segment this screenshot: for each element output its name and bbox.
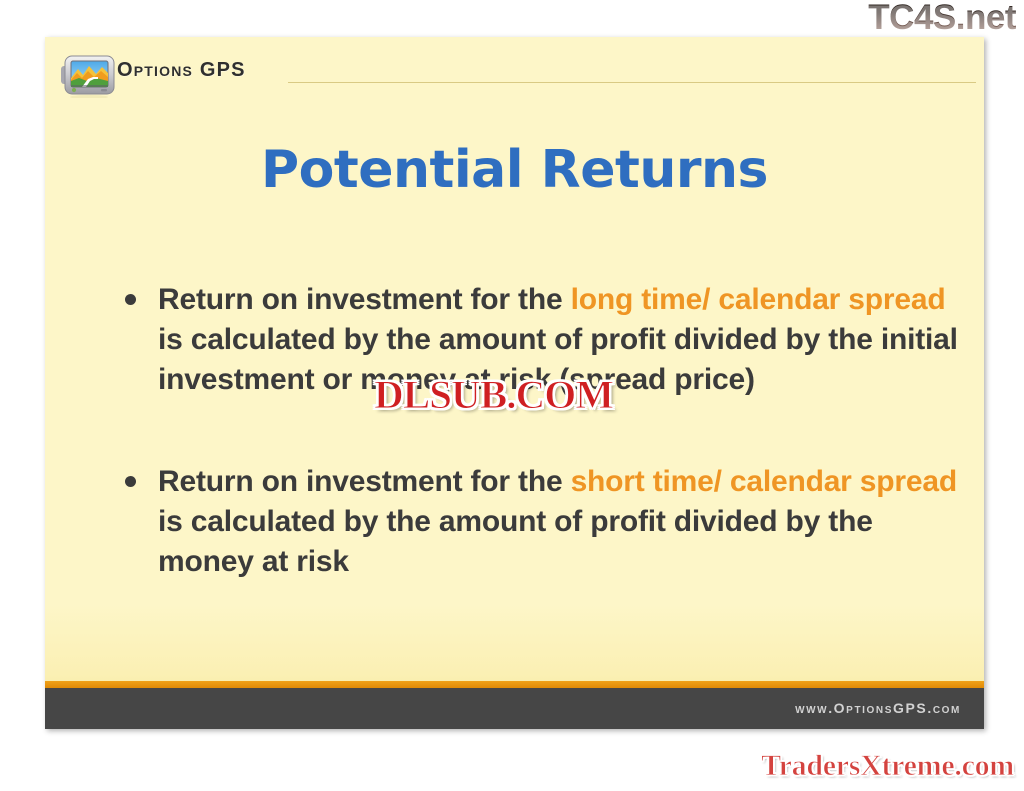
tc4s-watermark: TC4S.net	[868, 0, 1016, 38]
bullet-dot-icon	[125, 476, 136, 487]
slide-title: Potential Returns	[45, 140, 984, 200]
slide-header: Options GPS	[45, 37, 984, 99]
bullet-text-plain-4: is calculated by the amount of profit di…	[158, 505, 873, 578]
gps-device-icon	[60, 54, 117, 98]
bullet-list: Return on investment for the long time/ …	[78, 280, 968, 582]
accent-bar	[45, 681, 984, 688]
bullet-text-plain-3: Return on investment for the	[158, 465, 571, 498]
bullet-dot-icon	[125, 294, 136, 305]
bullet-text-highlight-1: long time/ calendar spread	[571, 283, 946, 316]
logo-text: Options GPS	[117, 59, 246, 82]
bullet-item: Return on investment for the short time/…	[78, 462, 968, 582]
tradersxtreme-watermark: TradersXtreme.com	[761, 749, 1014, 783]
header-divider	[288, 82, 976, 83]
dlsub-watermark: DLSUB.COM	[374, 371, 613, 418]
bullet-text-plain-1: Return on investment for the	[158, 283, 571, 316]
footer-url: www.OptionsGPS.com	[795, 700, 961, 716]
bullet-text-highlight-2: short time/ calendar spread	[571, 465, 957, 498]
slide-footer: www.OptionsGPS.com	[45, 688, 984, 729]
